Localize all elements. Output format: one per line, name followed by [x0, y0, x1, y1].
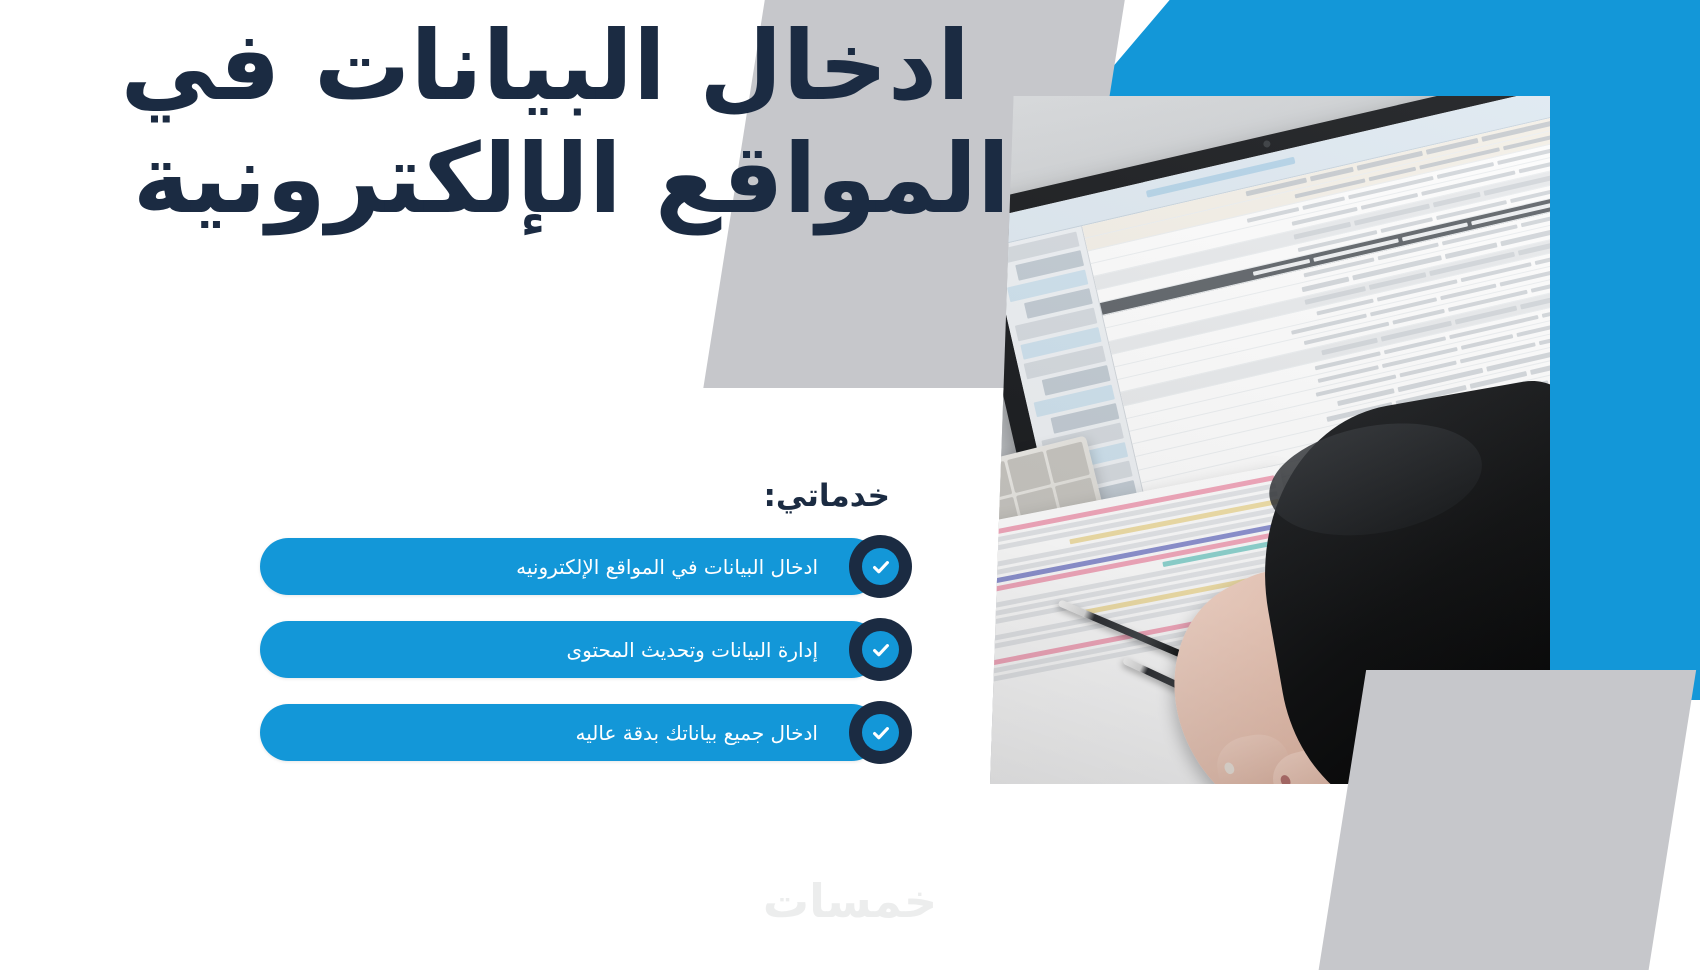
service-item-3[interactable]: ادخال جميع بياناتك بدقة عاليه: [260, 704, 880, 761]
page-title: ادخال البيانات في المواقع الإلكترونية: [0, 10, 970, 237]
poster-canvas: QWERTYUIOP ASDFGHJKL ZXCVBNM: [0, 0, 1700, 970]
services-heading: خدماتي:: [260, 478, 890, 514]
check-inner-circle: [862, 548, 899, 585]
services-section: خدماتي: ادخال البيانات في المواقع الإلكت…: [260, 478, 880, 787]
service-label-3: ادخال جميع بياناتك بدقة عاليه: [576, 723, 819, 743]
watermark: خمسات: [0, 874, 1700, 928]
check-circle-icon: [849, 535, 912, 598]
title-line-2: المواقع الإلكترونية: [0, 123, 1010, 236]
title-line-1: ادخال البيانات في: [0, 10, 970, 123]
service-item-2[interactable]: إدارة البيانات وتحديث المحتوى: [260, 621, 880, 678]
service-label-1: ادخال البيانات في المواقع الإلكترونيه: [516, 557, 818, 577]
check-circle-icon: [849, 701, 912, 764]
service-label-2: إدارة البيانات وتحديث المحتوى: [566, 640, 818, 660]
check-circle-icon: [849, 618, 912, 681]
service-item-1[interactable]: ادخال البيانات في المواقع الإلكترونيه: [260, 538, 880, 595]
check-inner-circle: [862, 714, 899, 751]
check-inner-circle: [862, 631, 899, 668]
